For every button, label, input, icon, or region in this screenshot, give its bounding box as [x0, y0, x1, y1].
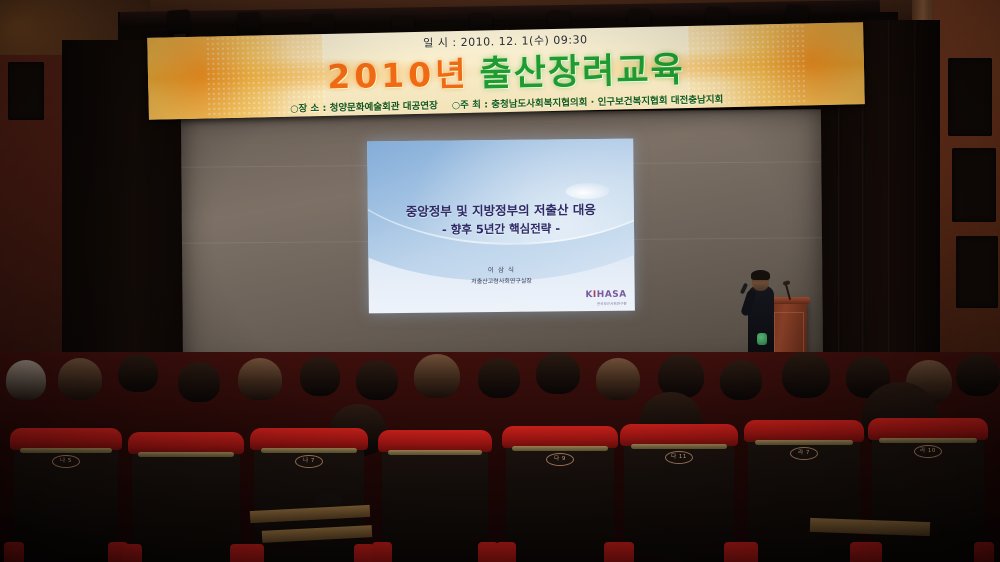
audience-head: [300, 356, 340, 396]
seat-armrest: [4, 542, 24, 562]
wall-speaker-cabinet-1: [948, 58, 992, 136]
audience-head: [536, 352, 580, 394]
audience-head: [178, 362, 220, 402]
seat-trim: [631, 444, 728, 449]
seat-cushion: [868, 418, 988, 440]
banner-venue: ○장 소 : 청양문화예술회관 대공연장: [290, 97, 438, 114]
auditorium-seat: 다 9: [506, 434, 614, 562]
stage-lamp-1: [167, 9, 191, 36]
seat-armrest: [862, 542, 882, 562]
audience-head: [238, 358, 282, 400]
seat-armrest: [244, 544, 264, 562]
banner-year: 2010년: [327, 54, 470, 96]
seat-trim: [20, 448, 112, 453]
slide-title-line1: 중앙정부 및 지방정부의 저출산 대응: [368, 201, 634, 223]
seat-trim: [388, 450, 481, 455]
wall-speaker-cabinet-3: [956, 236, 998, 308]
audience-head: [6, 360, 46, 400]
audience-head: [356, 360, 398, 400]
seat-cushion: [620, 424, 738, 446]
podium-front-panel: [774, 312, 804, 356]
stage-lamp-2: [238, 12, 261, 39]
kihasa-logo: KIHASA 한국보건사회연구원: [585, 290, 626, 306]
seat-cushion: [10, 428, 122, 450]
seat-armrest: [122, 544, 142, 562]
seat-trim: [261, 448, 358, 453]
audience-head: [956, 354, 1000, 396]
auditorium-seat: [382, 438, 488, 562]
seat-armrest: [478, 542, 498, 562]
auditorium-seat: [132, 440, 240, 562]
seat-number-badge: 다 11: [665, 451, 693, 464]
seat-armrest: [354, 544, 374, 562]
seat-cushion: [128, 432, 244, 454]
seat-armrest: [738, 542, 758, 562]
slide-title: 중앙정부 및 지방정부의 저출산 대응 - 향후 5년간 핵심전략 -: [368, 201, 634, 240]
seat-number-badge: 라 10: [914, 445, 942, 458]
kihasa-logo-mark: KIHASA: [585, 290, 626, 300]
seat-armrest: [614, 542, 634, 562]
wall-speaker-cabinet-2: [952, 148, 996, 222]
auditorium-photo-scene: 중앙정부 및 지방정부의 저출산 대응 - 향후 5년간 핵심전략 - 이 삼 …: [0, 0, 1000, 562]
auditorium-seat: 라 7: [748, 428, 860, 562]
presenter-held-object: [757, 333, 767, 345]
seat-number-badge: 다 9: [546, 453, 574, 466]
seat-trim: [512, 446, 607, 451]
audience-head: [118, 354, 158, 392]
audience-member-shoe: [316, 494, 342, 505]
audience-area: 나 5나 7다 9다 11라 7라 10: [0, 352, 1000, 562]
seat-armrest: [372, 542, 392, 562]
seat-trim: [879, 438, 978, 443]
seat-cushion: [502, 426, 618, 448]
seat-armrest: [974, 542, 994, 562]
slide-presenter-role: 저출산고령사회연구실장: [369, 275, 635, 289]
audience-head: [782, 352, 830, 398]
audience-head: [58, 358, 102, 400]
slide-title-line2: - 향후 5년간 핵심전략 -: [368, 219, 634, 239]
seat-armrest: [496, 542, 516, 562]
presenter-hair: [751, 270, 770, 280]
audience-head: [596, 358, 640, 400]
auditorium-seat: 나 7: [254, 436, 364, 562]
seat-number-badge: 나 5: [52, 455, 80, 468]
seat-cushion: [378, 430, 492, 452]
seat-cushion: [250, 428, 368, 450]
audience-head: [414, 354, 460, 398]
seat-number-badge: 나 7: [295, 455, 323, 468]
kihasa-logo-subtitle: 한국보건사회연구원: [585, 301, 626, 306]
seat-trim: [138, 452, 233, 457]
auditorium-seat: 라 10: [872, 426, 984, 562]
event-banner: 일 시 : 2010. 12. 1(수) 09:30 2010년출산장려교육 ○…: [147, 22, 865, 120]
audience-head: [478, 358, 520, 398]
audience-head: [658, 354, 704, 398]
presentation-slide: 중앙정부 및 지방정부의 저출산 대응 - 향후 5년간 핵심전략 - 이 삼 …: [367, 139, 635, 314]
seat-trim: [755, 440, 854, 445]
auditorium-seat: 다 11: [624, 432, 734, 562]
wall-speaker-cabinet-4: [8, 62, 44, 120]
seat-number-badge: 라 7: [790, 447, 818, 460]
audience-head: [720, 360, 762, 400]
banner-title: 출산장려교육: [479, 50, 685, 94]
slide-presenter-block: 이 삼 식 저출산고령사회연구실장: [368, 263, 634, 290]
seat-cushion: [744, 420, 864, 442]
auditorium-seat: 나 5: [14, 436, 118, 562]
